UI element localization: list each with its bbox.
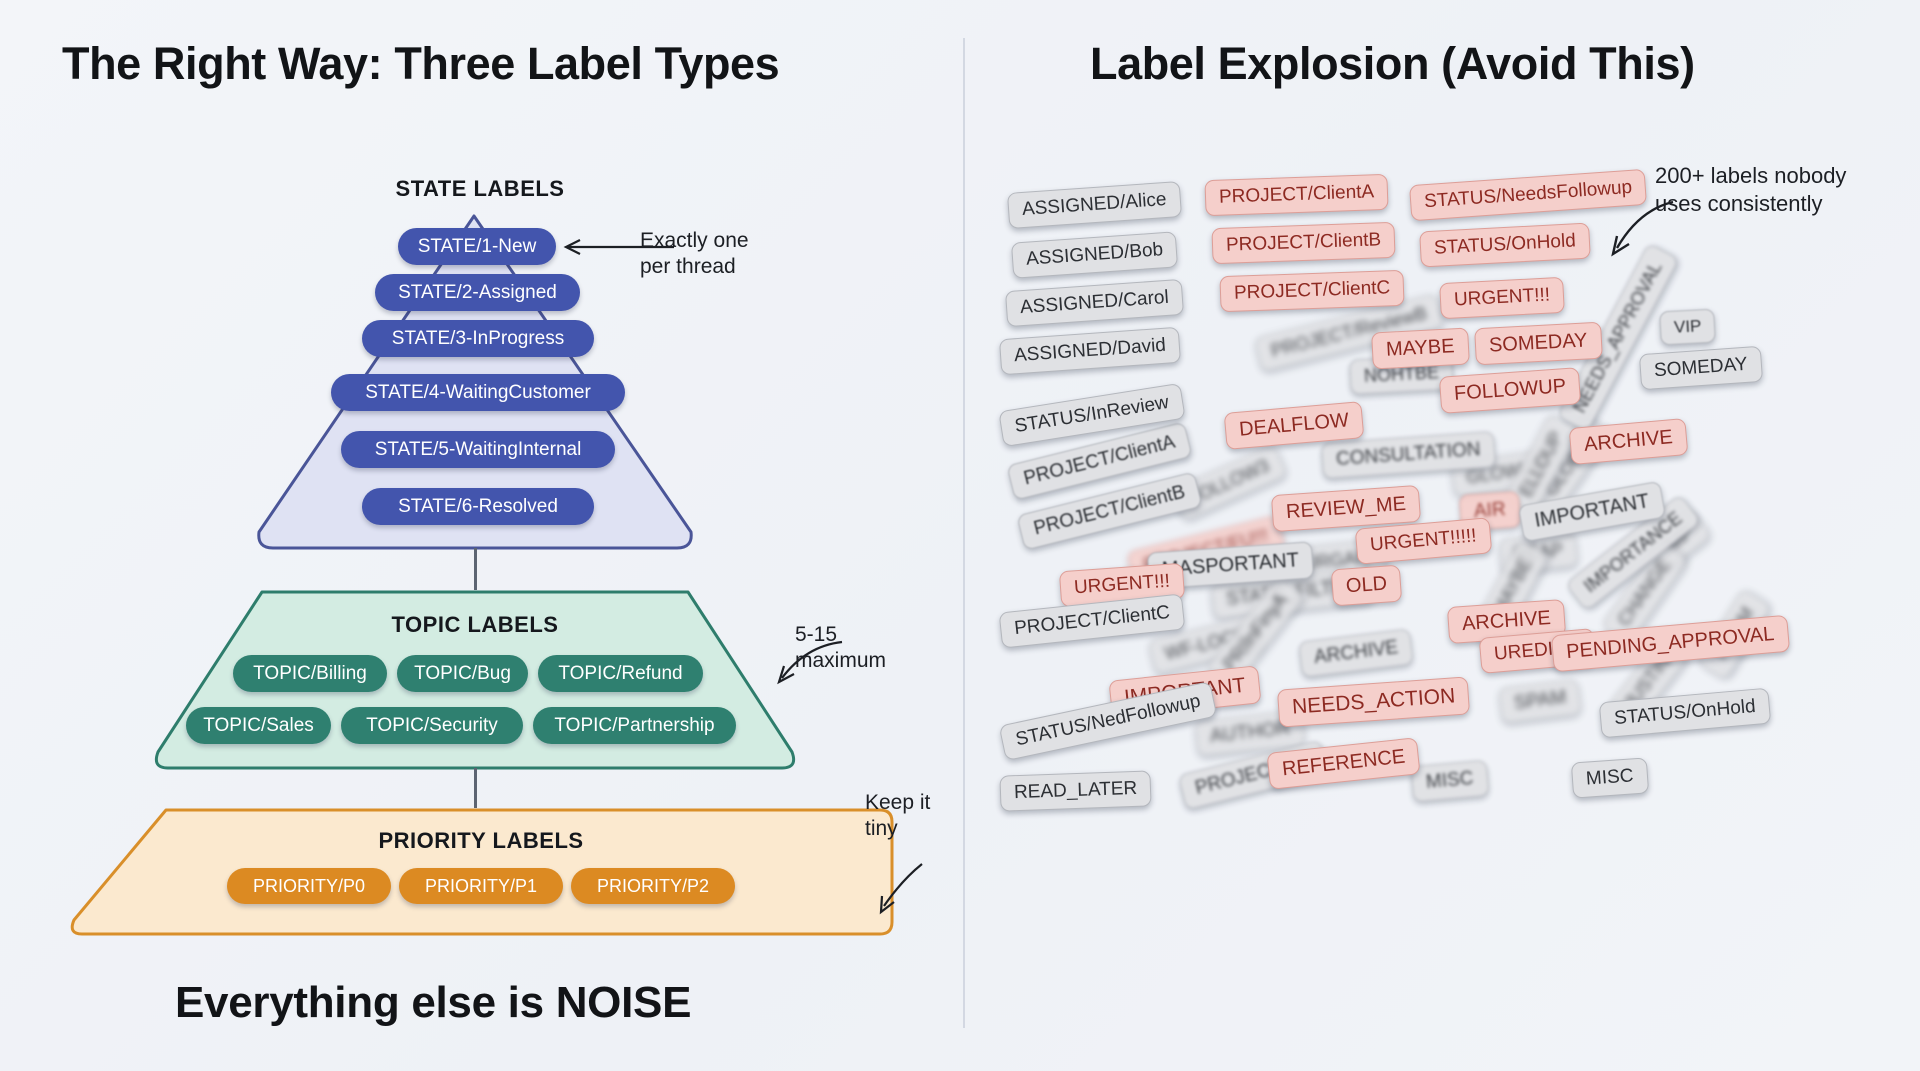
label-badge[interactable]: SPAM (1498, 678, 1582, 724)
label-badge[interactable]: STATUS/OnHold (1419, 223, 1590, 268)
label-badge[interactable]: ASSIGNED/Bob (1011, 231, 1178, 278)
label-badge[interactable]: ASSIGNED/Carol (1005, 279, 1184, 327)
state-chip-2[interactable]: STATE/2-Assigned (375, 274, 580, 311)
label-badge[interactable]: PROJECT/ClientB (1211, 222, 1395, 264)
label-explosion-cloud: ASSIGNED/AliceASSIGNED/BobASSIGNED/Carol… (1000, 175, 1900, 1005)
label-badge[interactable]: VIP (1659, 309, 1716, 346)
left-panel-slogan: Everything else is NOISE (175, 978, 691, 1028)
state-callout-text: Exactly one per thread (640, 228, 749, 281)
state-chip-1[interactable]: STATE/1-New (398, 228, 556, 265)
priority-chip-p0[interactable]: PRIORITY/P0 (227, 868, 391, 904)
priority-callout-text: Keep it tiny (865, 790, 930, 843)
state-chip-4[interactable]: STATE/4-WaitingCustomer (331, 374, 625, 411)
topic-chip-bug[interactable]: TOPIC/Bug (397, 655, 528, 692)
priority-callout-arrow (860, 858, 942, 920)
label-badge[interactable]: PROJECT/ClientC (1219, 270, 1404, 312)
right-panel-title: Label Explosion (Avoid This) (1090, 38, 1695, 90)
state-chip-5[interactable]: STATE/5-WaitingInternal (341, 431, 615, 468)
priority-chip-p1[interactable]: PRIORITY/P1 (399, 868, 563, 904)
topic-chip-billing[interactable]: TOPIC/Billing (233, 655, 387, 692)
state-chip-3[interactable]: STATE/3-InProgress (362, 320, 594, 357)
topic-callout-text: 5-15 maximum (795, 622, 886, 675)
label-badge[interactable]: NEEDS_ACTION (1277, 676, 1471, 727)
label-badge[interactable]: SOMEDAY (1474, 322, 1602, 366)
topic-chip-sales[interactable]: TOPIC/Sales (186, 707, 331, 744)
priority-chip-p2[interactable]: PRIORITY/P2 (571, 868, 735, 904)
label-badge[interactable]: ASSIGNED/Alice (1007, 181, 1182, 229)
topic-section-caption: TOPIC LABELS (152, 612, 798, 638)
state-section-caption: STATE LABELS (0, 176, 960, 202)
connector-topic-priority (474, 768, 477, 808)
label-badge[interactable]: MISC (1571, 757, 1649, 798)
connector-state-topic (474, 548, 477, 590)
label-badge[interactable]: MAYBE (1371, 327, 1469, 369)
topic-chip-partnership[interactable]: TOPIC/Partnership (533, 707, 736, 744)
label-badge[interactable]: READ_LATER (999, 770, 1151, 811)
topic-chip-security[interactable]: TOPIC/Security (341, 707, 523, 744)
label-badge[interactable]: STATUS/NeedsFollowup (1409, 169, 1647, 221)
priority-section-caption: PRIORITY LABELS (68, 828, 894, 854)
label-badge[interactable]: URGENT!!! (1439, 277, 1565, 319)
label-badge[interactable]: ARCHIVE (1298, 628, 1414, 677)
diagram-canvas: The Right Way: Three Label Types STATE L… (0, 0, 1920, 1071)
label-badge[interactable]: MISC (1411, 760, 1489, 802)
left-panel-title: The Right Way: Three Label Types (62, 38, 779, 90)
label-badge[interactable]: ASSIGNED/David (999, 327, 1181, 375)
label-badge[interactable]: SOMEDAY (1639, 346, 1763, 390)
panel-divider (963, 38, 965, 1028)
label-badge[interactable]: OLD (1331, 565, 1403, 607)
label-badge[interactable]: PROJECT/ClientA (1204, 174, 1388, 216)
state-chip-6[interactable]: STATE/6-Resolved (362, 488, 594, 525)
topic-chip-refund[interactable]: TOPIC/Refund (538, 655, 703, 692)
label-badge[interactable]: STATUS/NedFollowup (999, 681, 1218, 761)
